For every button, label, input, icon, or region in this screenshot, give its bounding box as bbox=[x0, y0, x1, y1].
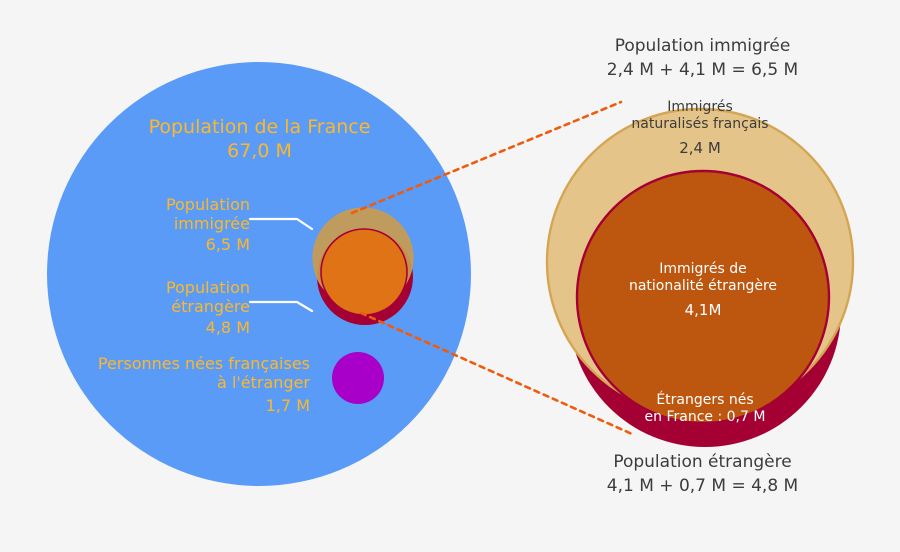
circle-nees-francaises-etranger bbox=[332, 352, 384, 404]
circle-immigres-nationalite-etrangere-large bbox=[577, 171, 829, 423]
circle-immigres-nationalite-etrangere-small bbox=[321, 229, 407, 315]
diagram-canvas bbox=[0, 0, 900, 552]
immigration-circles-infographic: Population de la France 67,0 M Populatio… bbox=[0, 0, 900, 552]
